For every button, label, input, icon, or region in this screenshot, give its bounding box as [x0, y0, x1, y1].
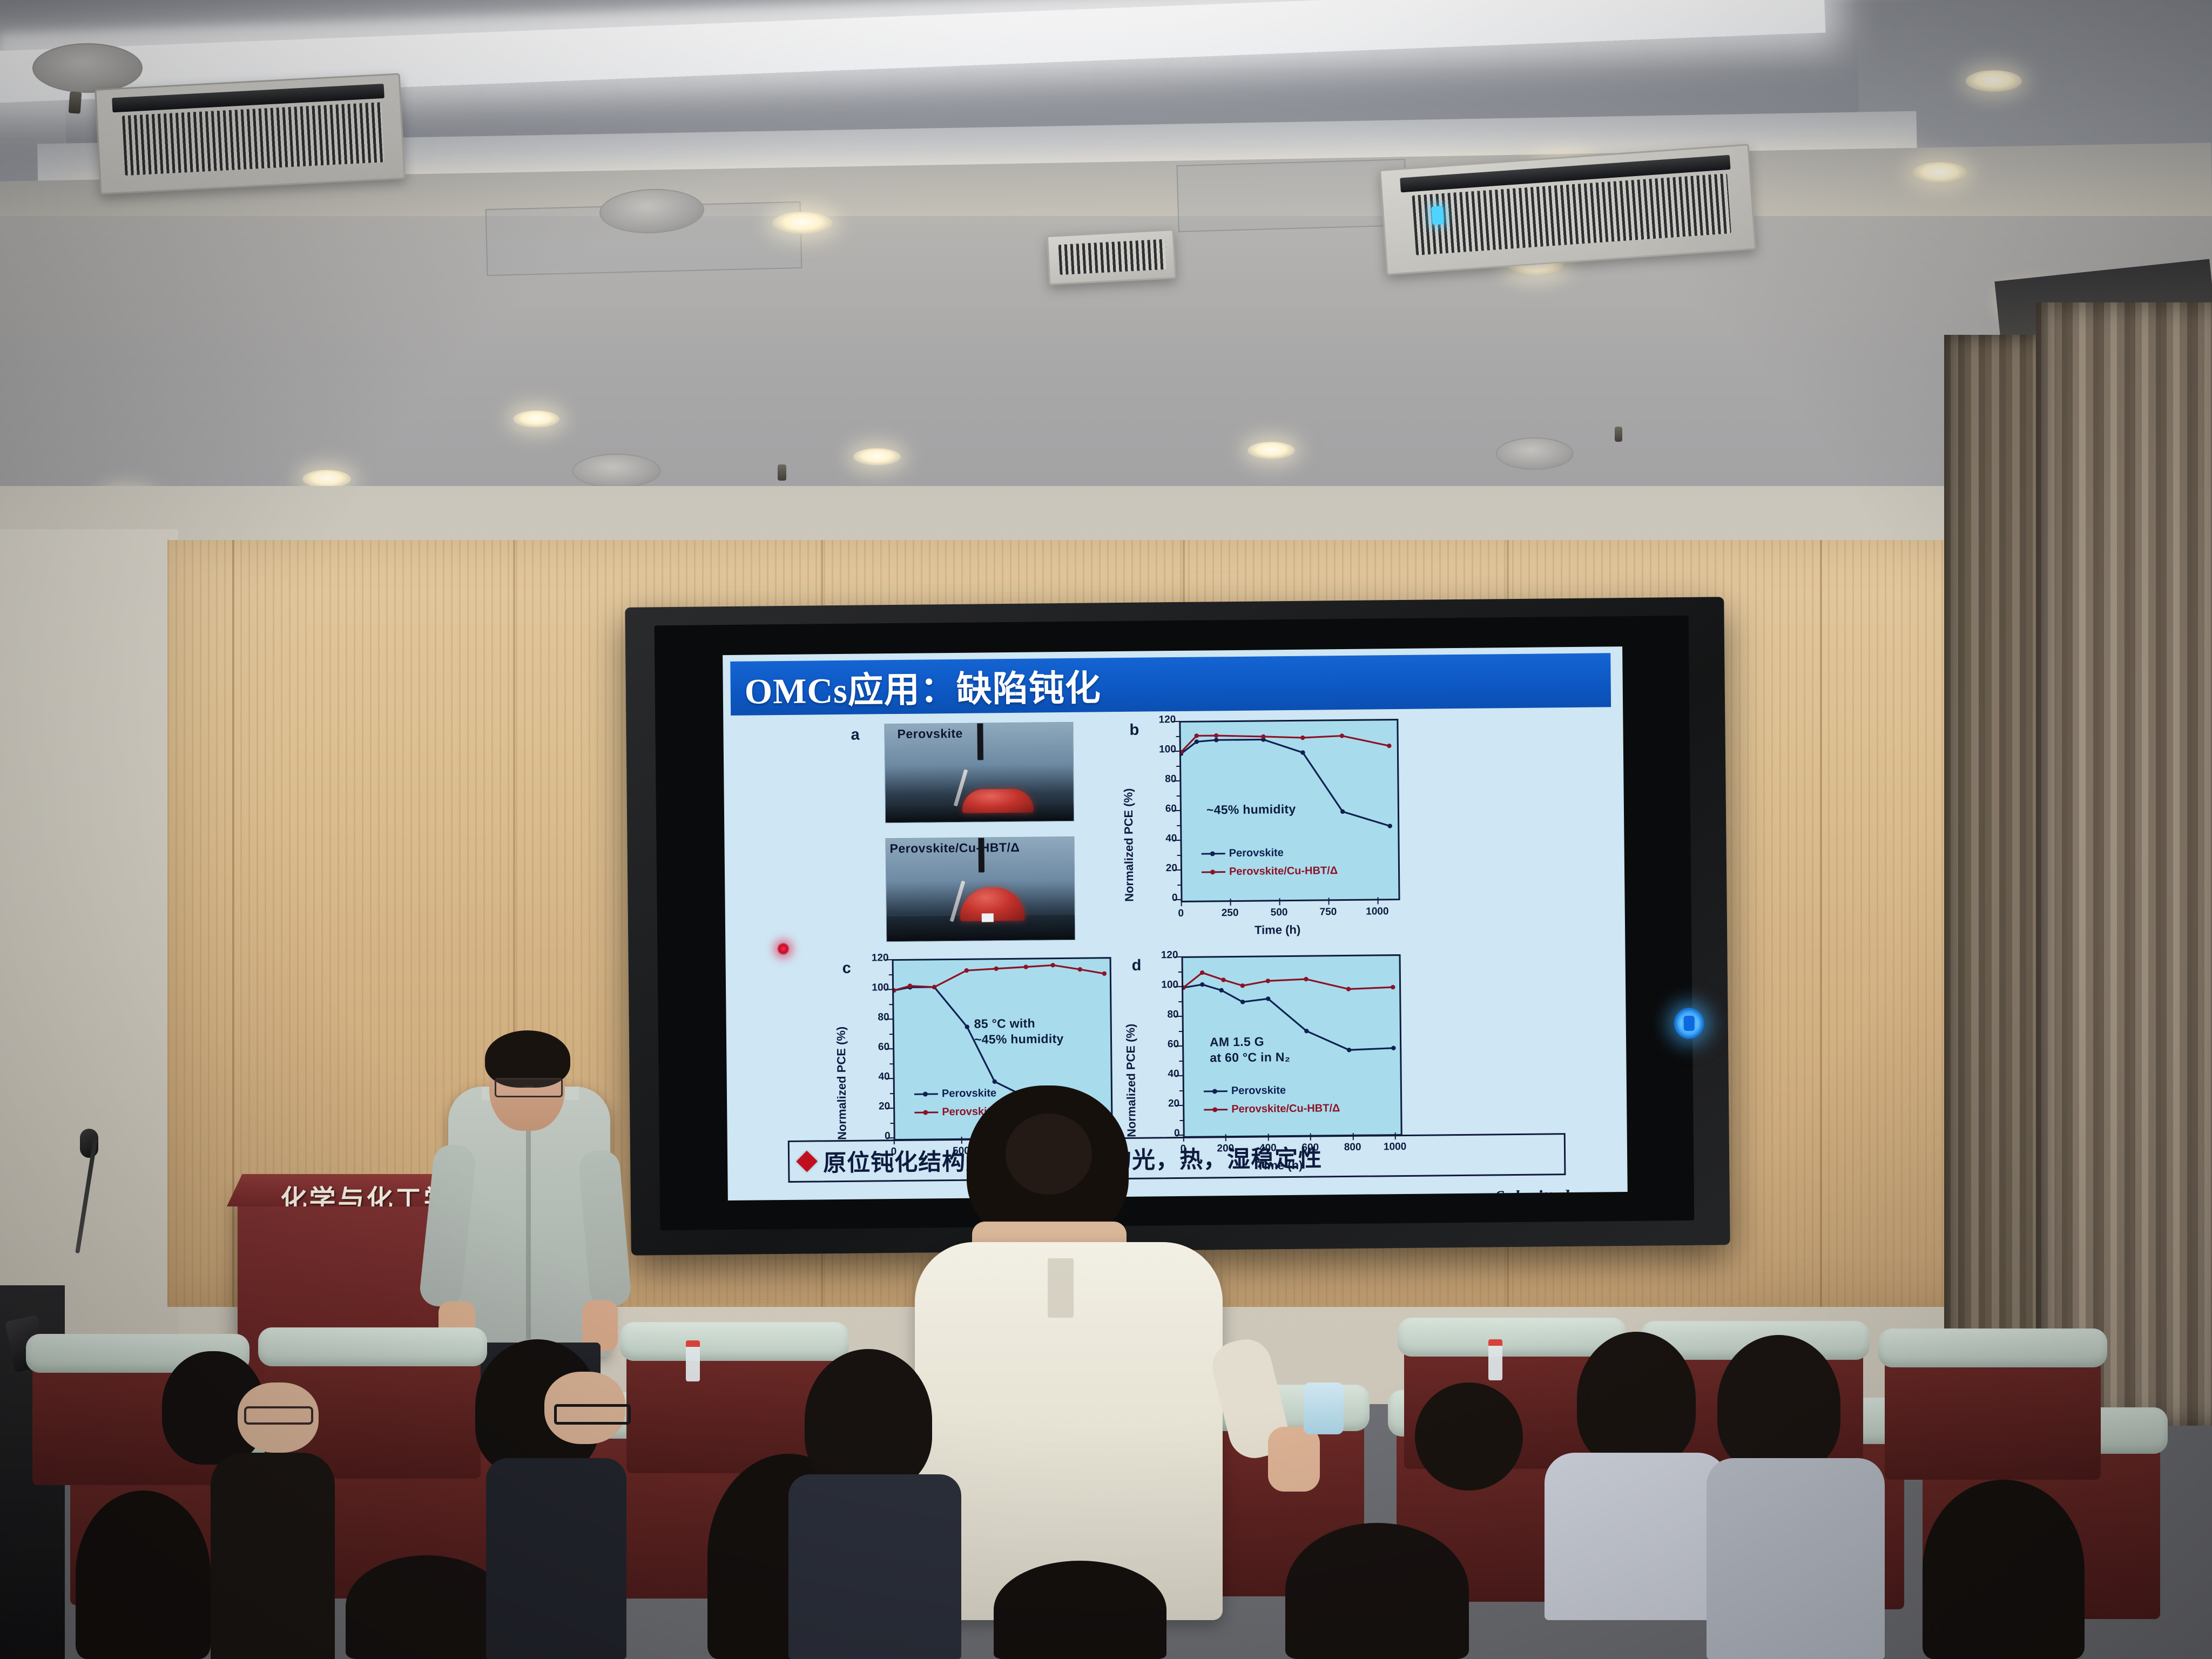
- ac-grille: [1058, 239, 1166, 274]
- audience-head: [805, 1349, 932, 1491]
- face-mask-icon: [1304, 1382, 1344, 1434]
- audience-head: [994, 1561, 1166, 1659]
- x-tick-label: 250: [1208, 907, 1253, 920]
- y-tick-mark: [1176, 1046, 1183, 1047]
- display-power-led-icon[interactable]: [1674, 1008, 1704, 1040]
- window-curtain: [2036, 302, 2212, 1426]
- audience-head: [1285, 1523, 1469, 1659]
- y-tick-mark: [1174, 840, 1181, 841]
- display-screen: OMCs应用：缺陷钝化 a Perovskite: [655, 616, 1695, 1230]
- presentation-display[interactable]: OMCs应用：缺陷钝化 a Perovskite: [625, 597, 1730, 1255]
- y-tick-minor: [1176, 736, 1181, 737]
- y-tick-label: 40: [1143, 833, 1177, 845]
- left-wall: [0, 529, 178, 1393]
- audience-center-hand: [1268, 1427, 1320, 1492]
- sprinkler-head-icon: [69, 91, 82, 113]
- y-tick-label: 40: [1146, 1068, 1179, 1081]
- y-tick-minor: [889, 974, 893, 975]
- ceiling-speaker-icon: [572, 454, 661, 488]
- chart-c-ylabel: Normalized PCE (%): [834, 1027, 849, 1141]
- y-tick-minor: [1177, 825, 1181, 826]
- panel-a-label-treated: Perovskite/Cu-HBT/Δ: [889, 840, 1020, 856]
- ac-indicator-led-icon: [1431, 206, 1444, 225]
- panel-a: a Perovskite: [873, 722, 1091, 940]
- ceiling-access-panel: [1176, 159, 1407, 232]
- chart-c-legend-control: Perovskite: [914, 1087, 996, 1100]
- y-tick-mark: [887, 1078, 894, 1079]
- y-tick-mark: [886, 989, 893, 990]
- x-tick-label: 750: [1305, 906, 1351, 919]
- y-tick-minor: [1179, 1030, 1183, 1031]
- y-tick-label: 120: [1142, 714, 1176, 726]
- y-tick-mark: [1176, 1105, 1184, 1106]
- y-tick-mark: [886, 1048, 894, 1049]
- y-tick-label: 40: [857, 1071, 890, 1083]
- recessed-downlight: [1912, 162, 1968, 184]
- chart-c-annotation: 85 °C with ~45% humidity: [974, 1015, 1064, 1048]
- x-tick-mark: [1328, 898, 1329, 905]
- y-tick-minor: [1177, 884, 1182, 885]
- chart-b-annotation: ~45% humidity: [1206, 801, 1296, 818]
- chart-panel-b: b Normalized PCE (%) ~45% humidity Perov…: [1124, 716, 1418, 945]
- y-tick-label: 20: [1144, 862, 1177, 875]
- audience-head: [1415, 1382, 1523, 1491]
- chart-b-ylabel: Normalized PCE (%): [1122, 788, 1137, 902]
- panel-b-letter: b: [1129, 721, 1139, 739]
- panel-d-letter: d: [1132, 957, 1142, 975]
- audience-head: [346, 1555, 508, 1659]
- figure-area: a Perovskite: [723, 713, 1627, 1132]
- y-tick-minor: [1177, 854, 1182, 855]
- y-tick-mark: [1176, 1016, 1183, 1017]
- slide-conclusion-box: 原位钝化结构大幅提升器件的光，热，湿稳定性: [788, 1133, 1566, 1183]
- x-tick-mark: [1181, 899, 1182, 906]
- y-tick-label: 20: [857, 1101, 890, 1113]
- x-tick-mark: [1377, 897, 1378, 904]
- chart-b-yticks: 020406080100120: [1124, 716, 1415, 718]
- slide-status-note: Submitted: [1495, 1187, 1569, 1201]
- y-tick-label: 80: [855, 1011, 889, 1024]
- x-tick-label: 0: [1158, 908, 1204, 920]
- x-tick-mark: [1279, 898, 1280, 905]
- audience-glasses-icon: [244, 1406, 313, 1425]
- y-tick-label: 20: [1146, 1098, 1179, 1110]
- y-tick-minor: [1178, 971, 1183, 972]
- panel-a-label-control: Perovskite: [897, 726, 963, 741]
- ac-grille: [122, 103, 385, 176]
- y-tick-mark: [1173, 780, 1181, 781]
- audience-head: [1923, 1480, 2085, 1659]
- ac-unit-left: [95, 73, 405, 194]
- y-tick-minor: [889, 1004, 893, 1005]
- audience-torso: [1545, 1453, 1728, 1620]
- y-tick-mark: [1176, 1075, 1184, 1076]
- recessed-downlight: [302, 470, 351, 488]
- presenter-glasses-icon: [495, 1078, 563, 1097]
- audience-hair-long: [211, 1453, 335, 1659]
- y-tick-minor: [1176, 765, 1181, 766]
- chart-b-xlabel: Time (h): [1255, 923, 1300, 938]
- chart-d-legend-treated: Perovskite/Cu-HBT/Δ: [1204, 1102, 1340, 1116]
- y-tick-label: 80: [1145, 1009, 1178, 1021]
- diamond-bullet-icon: [796, 1151, 818, 1172]
- recessed-downlight: [772, 212, 833, 234]
- y-tick-label: 0: [1144, 892, 1177, 905]
- audience-head: [76, 1491, 211, 1659]
- y-tick-mark: [1172, 721, 1180, 722]
- x-tick-mark: [1230, 899, 1231, 906]
- audience-torso: [1707, 1458, 1885, 1659]
- water-bottle: [686, 1340, 700, 1381]
- y-tick-label: 100: [855, 982, 889, 994]
- audience-head: [1577, 1332, 1696, 1467]
- slide-title: OMCs应用：缺陷钝化: [744, 659, 1101, 714]
- y-tick-mark: [1174, 810, 1181, 811]
- slide-canvas: OMCs应用：缺陷钝化 a Perovskite: [723, 646, 1628, 1201]
- y-tick-mark: [1175, 986, 1183, 987]
- y-tick-mark: [886, 959, 893, 960]
- y-tick-mark: [1173, 751, 1181, 752]
- ac-vent-small: [1047, 229, 1176, 285]
- y-tick-minor: [889, 1034, 894, 1035]
- audience-center-bun: [1006, 1114, 1092, 1195]
- presenter-shirt-placket: [526, 1107, 531, 1339]
- panel-a-letter: a: [851, 726, 859, 744]
- y-tick-minor: [1179, 1060, 1183, 1061]
- x-tick-label: 1000: [1354, 906, 1400, 918]
- panel-c-letter: c: [842, 960, 851, 977]
- y-tick-minor: [890, 1093, 894, 1094]
- recessed-downlight: [853, 448, 901, 466]
- lecture-hall-photo: OMCs应用：缺陷钝化 a Perovskite: [0, 0, 2212, 1659]
- audience-torso: [486, 1458, 626, 1659]
- y-tick-mark: [1175, 956, 1183, 957]
- chart-d-annotation: AM 1.5 G at 60 °C in N₂: [1210, 1034, 1290, 1066]
- sprinkler-head-icon: [1615, 427, 1622, 442]
- x-tick-label: 500: [1256, 907, 1301, 919]
- y-tick-minor: [1179, 1090, 1184, 1091]
- y-tick-mark: [1174, 869, 1182, 871]
- y-tick-mark: [887, 1108, 894, 1109]
- chart-b-plot: ~45% humidity Perovskite Perovskite/Cu-H…: [1179, 719, 1400, 902]
- ceiling-speaker-icon: [32, 43, 143, 93]
- chart-b-legend-treated: Perovskite/Cu-HBT/Δ: [1202, 865, 1338, 878]
- chart-d-legend-control: Perovskite: [1204, 1084, 1286, 1097]
- chart-d-ylabel: Normalized PCE (%): [1124, 1023, 1139, 1137]
- y-tick-label: 120: [1144, 949, 1178, 962]
- chart-b-legend-control: Perovskite: [1202, 847, 1284, 860]
- y-tick-minor: [1177, 795, 1181, 796]
- y-tick-label: 60: [1145, 1038, 1179, 1051]
- audience-torso: [788, 1474, 961, 1659]
- y-tick-minor: [1178, 1001, 1183, 1002]
- sprinkler-head-icon: [778, 464, 786, 481]
- chart-d-yticks: 020406080100120: [1126, 951, 1418, 954]
- y-tick-minor: [889, 1063, 894, 1064]
- audience-glasses-icon: [554, 1404, 631, 1425]
- audience-center-collar: [1048, 1258, 1074, 1318]
- recessed-downlight: [513, 410, 559, 428]
- recessed-downlight: [1247, 442, 1295, 459]
- slide-title-bar: OMCs应用：缺陷钝化: [730, 653, 1611, 716]
- ceiling-speaker-icon: [1496, 437, 1574, 470]
- y-tick-minor: [1179, 1120, 1184, 1121]
- chart-d-plot: AM 1.5 G at 60 °C in N₂ Perovskite Perov…: [1182, 954, 1402, 1138]
- y-tick-mark: [886, 1019, 894, 1020]
- y-tick-label: 60: [856, 1041, 889, 1054]
- y-tick-label: 100: [1145, 979, 1178, 992]
- y-tick-label: 120: [855, 952, 888, 965]
- audience-head: [1717, 1335, 1840, 1473]
- y-tick-label: 100: [1143, 744, 1176, 756]
- y-tick-label: 60: [1143, 803, 1177, 815]
- recessed-downlight: [1966, 70, 2022, 92]
- water-bottle: [1488, 1339, 1502, 1380]
- y-tick-minor: [890, 1123, 894, 1124]
- y-tick-label: 80: [1143, 773, 1176, 786]
- chart-c-yticks: 020406080100120: [837, 954, 1129, 956]
